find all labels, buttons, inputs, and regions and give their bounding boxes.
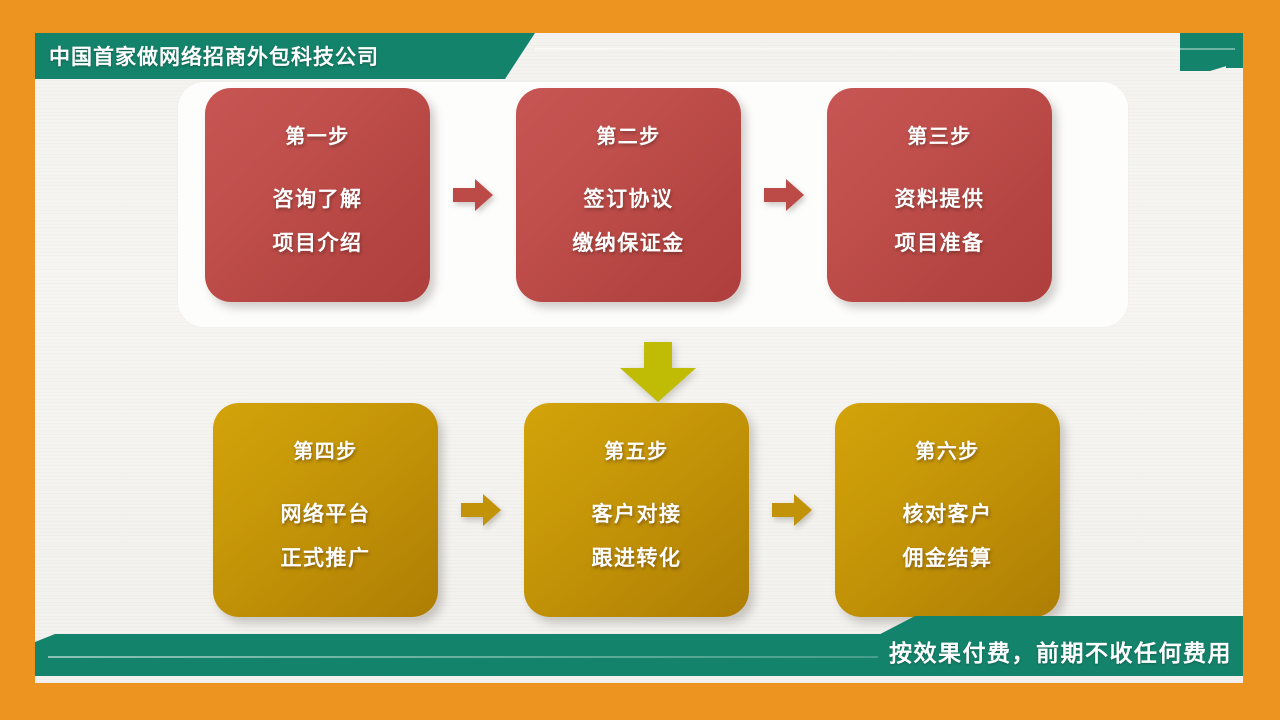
flow-row-1: 第一步 咨询了解 项目介绍 第二步 签订协议 缴纳保证金 — [205, 88, 1052, 302]
step-card-title: 第一步 — [285, 120, 350, 149]
step-card-lines: 资料提供 项目准备 — [895, 183, 985, 257]
arrow-right-icon — [749, 493, 835, 527]
flow-row-2: 第四步 网络平台 正式推广 第五步 客户对接 跟进转化 — [213, 403, 1060, 617]
header-divider-line — [535, 48, 1235, 50]
step-card-line: 佣金结算 — [903, 542, 993, 572]
arrow-right-icon — [430, 178, 516, 212]
step-card-1[interactable]: 第一步 咨询了解 项目介绍 — [205, 88, 430, 302]
step-card-lines: 咨询了解 项目介绍 — [273, 183, 363, 257]
step-card-line: 资料提供 — [895, 183, 985, 213]
step-card-title: 第四步 — [293, 435, 358, 464]
step-card-line: 项目准备 — [895, 227, 985, 257]
step-card-lines: 客户对接 跟进转化 — [592, 498, 682, 572]
step-card-line: 跟进转化 — [592, 542, 682, 572]
arrow-down-icon — [620, 342, 696, 407]
step-card-title: 第三步 — [907, 120, 972, 149]
footer-divider-line — [48, 656, 878, 658]
step-card-line: 缴纳保证金 — [572, 227, 685, 257]
step-card-line: 项目介绍 — [273, 227, 363, 257]
step-card-line: 正式推广 — [281, 542, 371, 572]
step-card-6[interactable]: 第六步 核对客户 佣金结算 — [835, 403, 1060, 617]
arrow-right-icon — [741, 178, 827, 212]
step-card-3[interactable]: 第三步 资料提供 项目准备 — [827, 88, 1052, 302]
step-card-5[interactable]: 第五步 客户对接 跟进转化 — [524, 403, 749, 617]
page-title: 中国首家做网络招商外包科技公司 — [49, 41, 379, 71]
step-card-title: 第五步 — [604, 435, 669, 464]
arrow-right-icon — [438, 493, 524, 527]
step-card-title: 第二步 — [596, 120, 661, 149]
step-card-lines: 签订协议 缴纳保证金 — [572, 183, 685, 257]
step-card-line: 网络平台 — [281, 498, 371, 528]
step-card-line: 核对客户 — [903, 498, 993, 528]
step-card-line: 咨询了解 — [273, 183, 363, 213]
step-card-lines: 核对客户 佣金结算 — [903, 498, 993, 572]
flow-diagram: 第一步 咨询了解 项目介绍 第二步 签订协议 缴纳保证金 — [35, 70, 1243, 630]
step-card-line: 签订协议 — [584, 183, 674, 213]
footer-tagline: 按效果付费，前期不收任何费用 — [889, 634, 1232, 668]
step-card-line: 客户对接 — [592, 498, 682, 528]
step-card-4[interactable]: 第四步 网络平台 正式推广 — [213, 403, 438, 617]
step-card-lines: 网络平台 正式推广 — [281, 498, 371, 572]
slide: 中国首家做网络招商外包科技公司 第一步 咨询了解 项目介绍 第二步 — [0, 0, 1280, 720]
step-card-title: 第六步 — [915, 435, 980, 464]
step-card-2[interactable]: 第二步 签订协议 缴纳保证金 — [516, 88, 741, 302]
